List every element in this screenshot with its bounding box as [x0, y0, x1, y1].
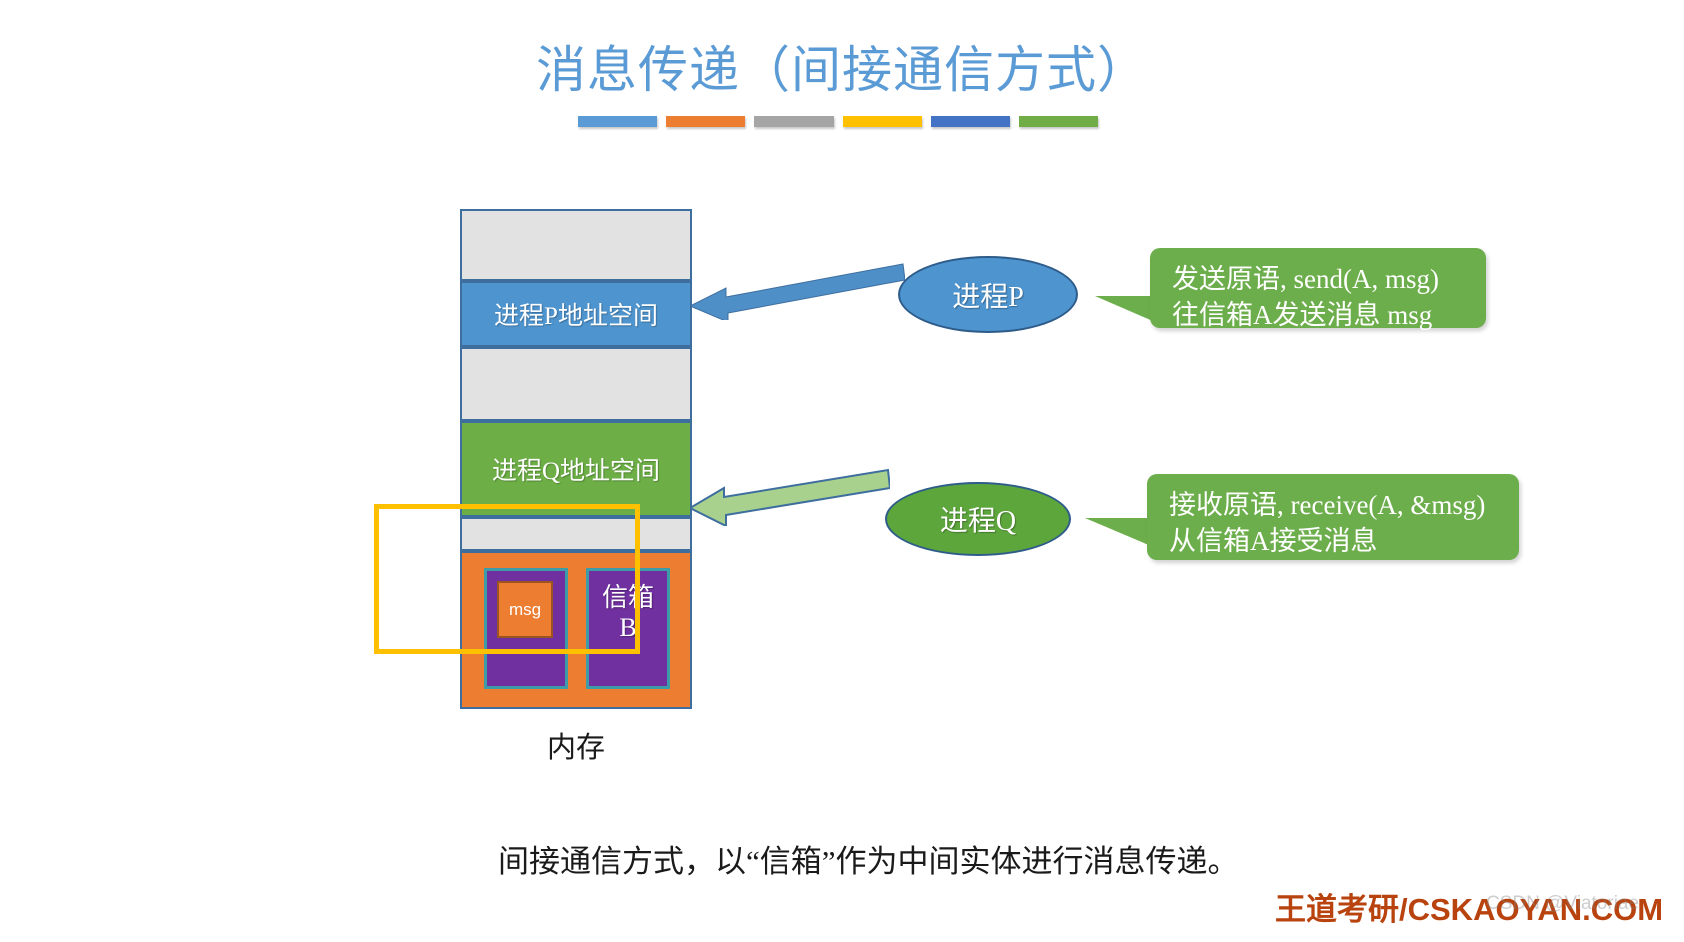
receive-arrow-icon [690, 468, 890, 526]
accent-bar-yellow [843, 116, 922, 127]
accent-bar-green [1019, 116, 1098, 127]
memory-band-empty-middle [460, 347, 692, 421]
process-q-node: 进程Q [885, 482, 1071, 556]
receive-callout-line-2: 从信箱A接受消息 [1169, 524, 1501, 560]
send-callout-tail [1095, 296, 1155, 322]
csdn-watermark: CSDN @Viatoriae [1486, 893, 1639, 915]
accent-bar-dark-blue [931, 116, 1010, 127]
send-callout: 发送原语, send(A, msg) 往信箱A发送消息 msg [1150, 248, 1486, 328]
accent-bar-blue [578, 116, 657, 127]
memory-band-process-q: 进程Q地址空间 [460, 421, 692, 517]
page-title: 消息传递（间接通信方式） [0, 30, 1684, 102]
memory-label: 内存 [460, 724, 692, 766]
receive-callout-line-1: 接收原语, receive(A, &msg) [1169, 488, 1501, 524]
highlight-rectangle [374, 504, 640, 654]
accent-bar-group [578, 116, 1098, 127]
send-callout-line-1: 发送原语, send(A, msg) [1172, 262, 1468, 298]
memory-band-process-p: 进程P地址空间 [460, 281, 692, 347]
accent-bar-gray [754, 116, 833, 127]
caption-text: 间接通信方式，以“信箱”作为中间实体进行消息传递。 [498, 836, 1239, 881]
memory-band-empty-top [460, 209, 692, 281]
send-callout-line-2: 往信箱A发送消息 msg [1172, 298, 1468, 334]
receive-callout: 接收原语, receive(A, &msg) 从信箱A接受消息 [1147, 474, 1519, 560]
accent-bar-orange [666, 116, 745, 127]
send-arrow-icon [690, 262, 905, 320]
receive-callout-tail [1085, 518, 1151, 546]
process-p-node: 进程P [898, 256, 1078, 333]
